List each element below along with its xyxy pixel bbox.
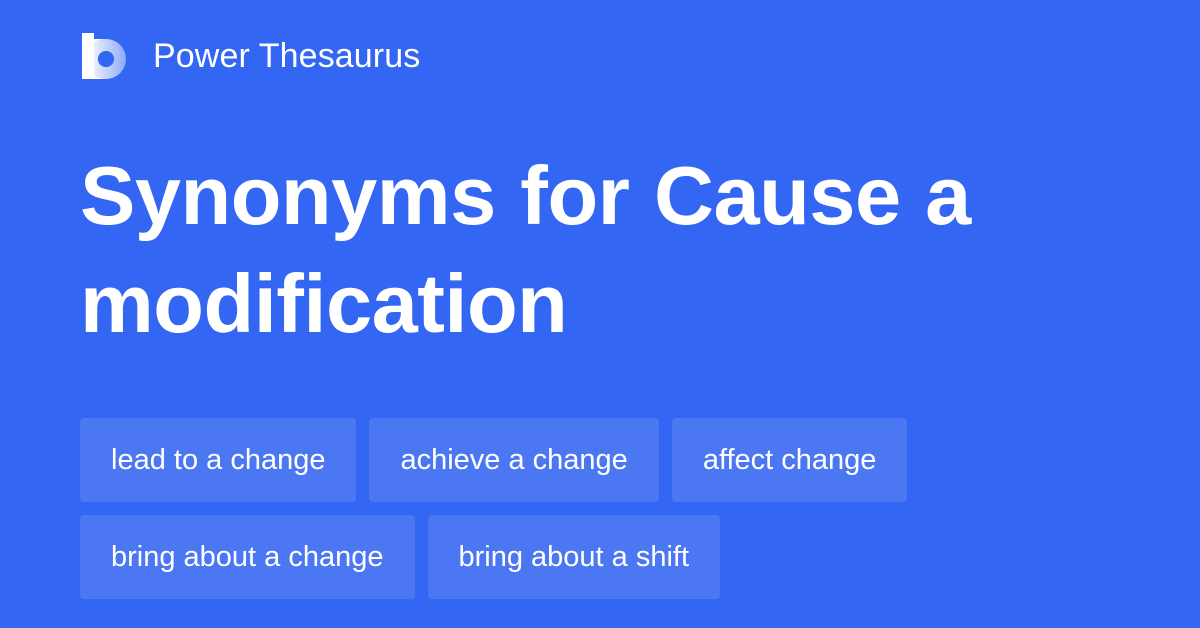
synonym-chip[interactable]: affect change [672, 418, 908, 502]
brand-header[interactable]: Power Thesaurus [80, 28, 420, 84]
synonym-chip[interactable]: achieve a change [369, 418, 658, 502]
synonym-chip[interactable]: lead to a change [80, 418, 356, 502]
brand-name: Power Thesaurus [153, 36, 420, 76]
synonym-chip[interactable]: bring about a shift [428, 515, 721, 599]
share-card: Power Thesaurus Synonyms for Cause a mod… [0, 0, 1200, 628]
page-title: Synonyms for Cause a modification [80, 142, 1120, 358]
synonym-chip[interactable]: bring about a change [80, 515, 415, 599]
power-thesaurus-b-logo-icon [80, 31, 128, 81]
synonym-chip-list: lead to a change achieve a change affect… [80, 418, 1140, 599]
